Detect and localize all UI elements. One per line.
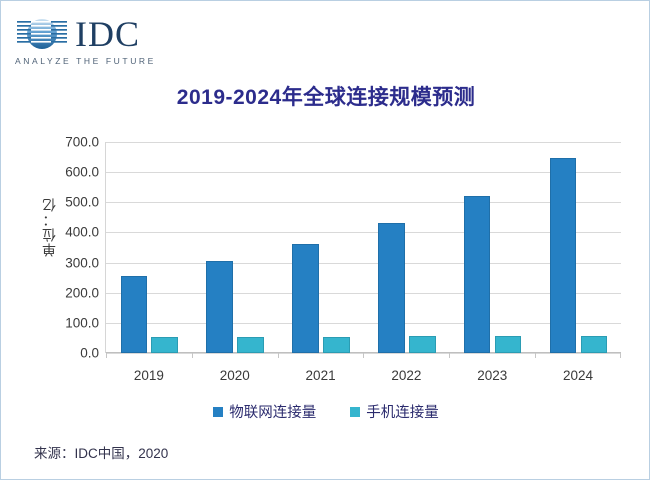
bar-mobile-2019[interactable] [151, 337, 178, 353]
x-axis-tick-mark [192, 353, 193, 358]
x-axis-tick-mark [106, 353, 107, 358]
legend-item-mobile[interactable]: 手机连接量 [350, 401, 439, 422]
bar-iot-2024[interactable] [550, 158, 577, 353]
idc-globe-icon [15, 13, 69, 55]
bar-group-2019: 2019 [106, 142, 192, 353]
y-axis-tick-label: 600.0 [65, 165, 99, 180]
x-axis-tick-label-2024: 2024 [535, 368, 621, 383]
x-axis-tick-mark [535, 353, 536, 358]
y-axis-tick-label: 300.0 [65, 255, 99, 270]
x-axis-tick-label-2023: 2023 [449, 368, 535, 383]
bar-groups: 201920202021202220232024 [106, 142, 621, 353]
legend-swatch-icon [213, 407, 223, 417]
bar-iot-2021[interactable] [292, 244, 319, 353]
legend-swatch-icon [350, 407, 360, 417]
y-axis-tick-label: 200.0 [65, 285, 99, 300]
x-axis-tick-mark [620, 353, 621, 358]
legend-label: 物联网连接量 [229, 401, 316, 422]
y-axis-tick-label: 700.0 [65, 135, 99, 150]
bar-group-2021: 2021 [278, 142, 364, 353]
logo-row: IDC [15, 13, 175, 55]
idc-logo: IDC ANALYZE THE FUTURE [15, 13, 175, 69]
x-axis-tick-label-2021: 2021 [278, 368, 364, 383]
x-axis-tick-mark [278, 353, 279, 358]
legend-item-iot[interactable]: 物联网连接量 [213, 401, 316, 422]
bar-mobile-2021[interactable] [323, 337, 350, 353]
bar-mobile-2023[interactable] [495, 336, 522, 353]
x-axis-tick-label-2022: 2022 [363, 368, 449, 383]
bar-group-2024: 2024 [535, 142, 621, 353]
logo-wordmark: IDC [75, 14, 140, 54]
chart-legend: 物联网连接量手机连接量 [1, 401, 650, 422]
y-axis-tick-label: 400.0 [65, 225, 99, 240]
bar-group-2020: 2020 [192, 142, 278, 353]
x-axis-tick-mark [363, 353, 364, 358]
bar-group-2023: 2023 [449, 142, 535, 353]
bar-mobile-2020[interactable] [237, 337, 264, 353]
x-axis-tick-label-2020: 2020 [192, 368, 278, 383]
y-axis-tick-label: 100.0 [65, 315, 99, 330]
bar-mobile-2022[interactable] [409, 336, 436, 353]
y-axis-tick-label: 0.0 [80, 346, 99, 361]
slide-canvas: IDC ANALYZE THE FUTURE 2019-2024年全球连接规模预… [0, 0, 650, 480]
plot-area: 700.0600.0500.0400.0300.0200.0100.00.0 2… [105, 142, 621, 353]
bar-iot-2023[interactable] [464, 196, 491, 353]
bar-iot-2019[interactable] [121, 276, 148, 353]
x-axis-tick-mark [449, 353, 450, 358]
bar-group-2022: 2022 [363, 142, 449, 353]
bar-mobile-2024[interactable] [581, 336, 608, 353]
bar-iot-2022[interactable] [378, 223, 405, 353]
source-note: 来源：IDC中国，2020 [34, 442, 168, 462]
legend-label: 手机连接量 [366, 401, 439, 422]
chart-title: 2019-2024年全球连接规模预测 [1, 81, 650, 111]
x-axis-tick-label-2019: 2019 [106, 368, 192, 383]
bar-iot-2020[interactable] [206, 261, 233, 353]
logo-tagline: ANALYZE THE FUTURE [15, 56, 175, 66]
y-axis-tick-label: 500.0 [65, 195, 99, 210]
y-axis-title: 单位：亿 [39, 197, 61, 257]
